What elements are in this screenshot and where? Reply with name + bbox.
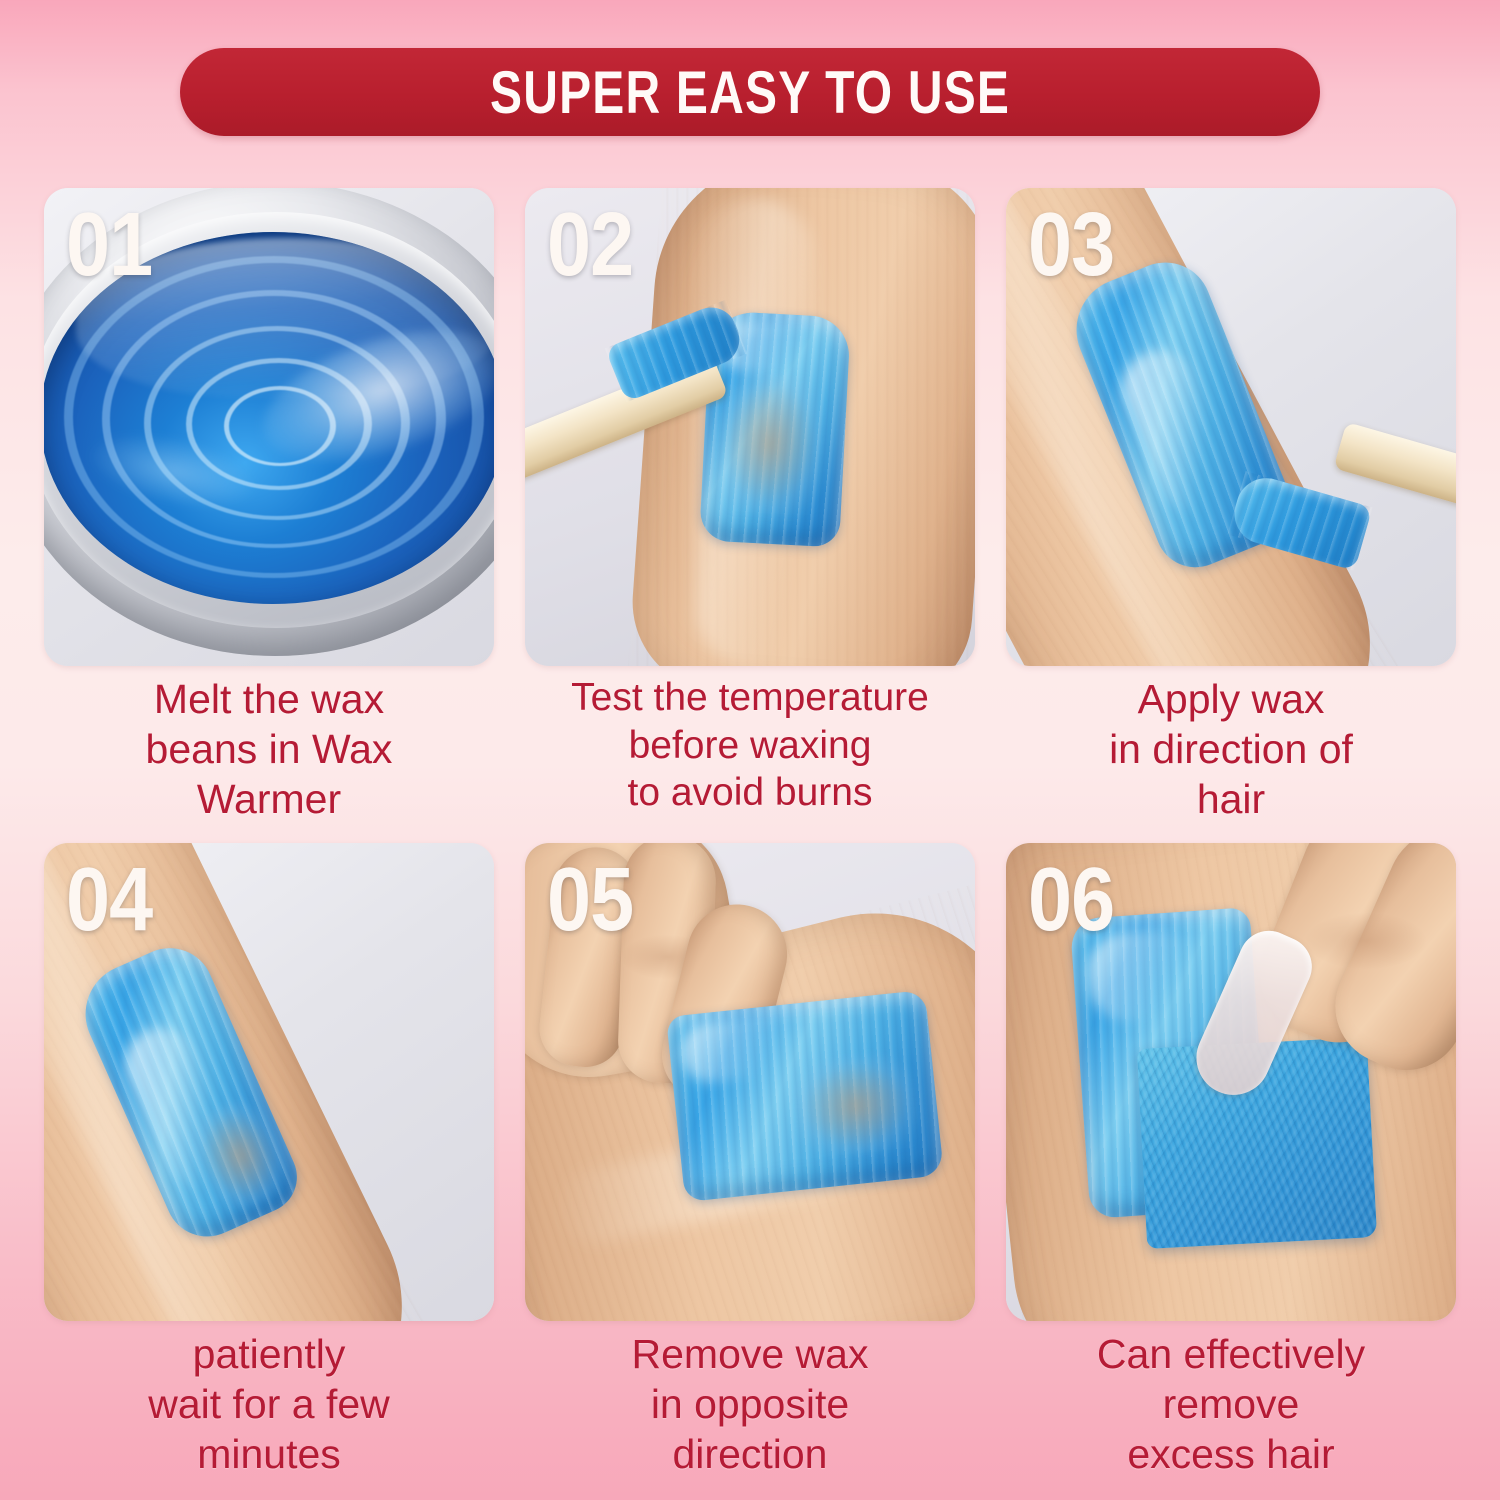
infographic-page: SUPER EASY TO USE 01	[0, 0, 1500, 1500]
step-number-04: 04	[66, 855, 152, 945]
wax-translucency	[792, 1052, 921, 1160]
step-number-06: 06	[1028, 855, 1114, 945]
knuckle-shadow	[1306, 913, 1426, 969]
wax-translucency	[715, 371, 826, 516]
step-number-05: 05	[547, 855, 633, 945]
step-card-03: 03 Apply wax in direction of hair	[1006, 188, 1456, 666]
step-caption-01: Melt the wax beans in Wax Warmer	[44, 666, 494, 824]
step-image-05: 05	[525, 843, 975, 1321]
step-card-05: 05 Remove wax in opposite direction	[525, 843, 975, 1321]
step-image-06: 06	[1006, 843, 1456, 1321]
page-title: SUPER EASY TO USE	[490, 58, 1010, 127]
step-caption-05: Remove wax in opposite direction	[525, 1321, 975, 1479]
step-card-01: 01 Melt the wax beans in Wax Warmer	[44, 188, 494, 666]
wax-strip-being-peeled	[666, 990, 944, 1202]
step-caption-06: Can effectively remove excess hair	[1006, 1321, 1456, 1479]
step-caption-02: Test the temperature before waxing to av…	[525, 666, 975, 817]
steps-grid: 01 Melt the wax beans in Wax Warmer	[44, 188, 1456, 1478]
step-image-03: 03	[1006, 188, 1456, 666]
step-caption-03: Apply wax in direction of hair	[1006, 666, 1456, 824]
step-image-01: 01	[44, 188, 494, 666]
step-number-02: 02	[547, 200, 633, 290]
step-number-01: 01	[66, 200, 152, 290]
header-banner: SUPER EASY TO USE	[180, 48, 1320, 136]
step-number-03: 03	[1028, 200, 1114, 290]
step-card-04: 04 patiently wait for a few minutes	[44, 843, 494, 1321]
step-image-04: 04	[44, 843, 494, 1321]
step-image-02: 02	[525, 188, 975, 666]
step-card-02: 02 Test the temperature before waxing to…	[525, 188, 975, 666]
step-card-06: 06 Can effectively remove excess hair	[1006, 843, 1456, 1321]
step-caption-04: patiently wait for a few minutes	[44, 1321, 494, 1479]
